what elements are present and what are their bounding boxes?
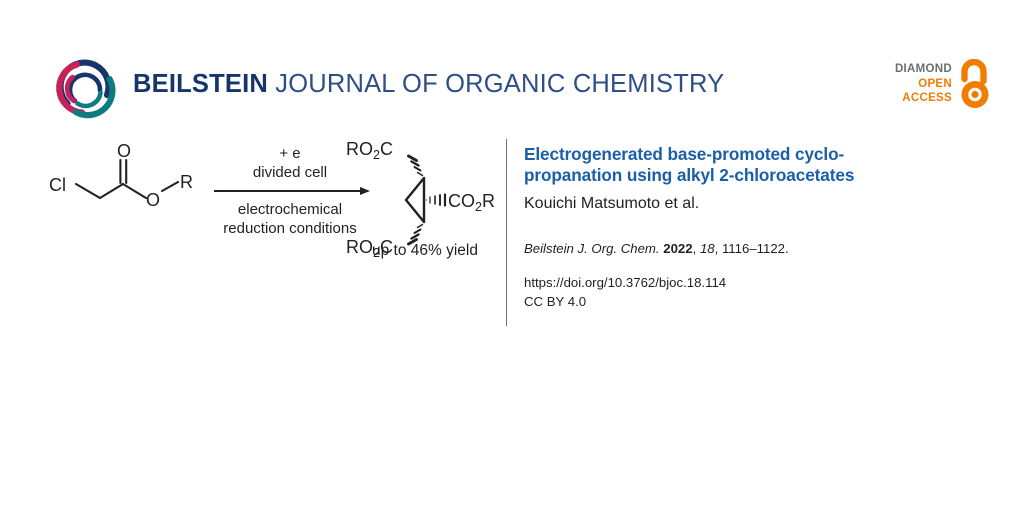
- reactant-cl-label: Cl: [49, 175, 66, 195]
- product-right-label: CO2R: [448, 191, 495, 214]
- reactant-carbonyl-o-label: O: [117, 141, 131, 161]
- citation-journal: Beilstein J. Org. Chem.: [524, 241, 660, 256]
- masthead-subtitle: JOURNAL OF ORGANIC CHEMISTRY: [268, 70, 724, 98]
- arrow-above-line1: + e: [279, 145, 300, 162]
- reactant-r-label: R: [180, 172, 193, 192]
- beilstein-spiral-logo-icon: [55, 57, 117, 119]
- reaction-arrow: [214, 187, 370, 195]
- page-header: BEILSTEIN JOURNAL OF ORGANIC CHEMISTRY D…: [0, 0, 1024, 130]
- yield-label: up to 46% yield: [340, 242, 510, 260]
- badge-line-open: OPEN: [895, 77, 952, 92]
- article-title-line1: Electrogenerated base-promoted cyclo-: [524, 144, 844, 164]
- article-citation: Beilstein J. Org. Chem. 2022, 18, 1116–1…: [524, 241, 954, 256]
- arrow-below-line2: reduction conditions: [223, 220, 356, 237]
- product-top-left-label: RO2C: [346, 139, 393, 162]
- citation-volume: 18: [700, 241, 715, 256]
- open-access-wordmark: DIAMOND OPEN ACCESS: [895, 62, 952, 106]
- badge-line-access: ACCESS: [895, 91, 952, 106]
- article-title[interactable]: Electrogenerated base-promoted cyclo- pr…: [524, 144, 954, 186]
- citation-pages: 1116–1122.: [722, 241, 789, 256]
- journal-masthead: BEILSTEIN JOURNAL OF ORGANIC CHEMISTRY: [133, 70, 724, 99]
- badge-line-diamond: DIAMOND: [895, 62, 952, 77]
- article-info: Electrogenerated base-promoted cyclo- pr…: [524, 144, 954, 311]
- citation-year: 2022: [663, 241, 692, 256]
- article-authors: Kouichi Matsumoto et al.: [524, 195, 954, 213]
- product-cyclopropane: [406, 156, 445, 244]
- masthead-brand: BEILSTEIN: [133, 70, 268, 98]
- vertical-divider: [506, 139, 507, 326]
- article-doi-link[interactable]: https://doi.org/10.3762/bjoc.18.114: [524, 273, 954, 292]
- article-title-line2: propanation using alkyl 2-chloroacetates: [524, 165, 854, 185]
- arrow-above-line2: divided cell: [253, 164, 327, 181]
- article-license: CC BY 4.0: [524, 292, 954, 311]
- diamond-open-access-badge: DIAMOND OPEN ACCESS: [876, 62, 994, 118]
- reactant-ester-o-label: O: [146, 190, 160, 210]
- open-access-padlock-icon: [956, 59, 994, 111]
- arrow-below-line1: electrochemical: [238, 201, 342, 218]
